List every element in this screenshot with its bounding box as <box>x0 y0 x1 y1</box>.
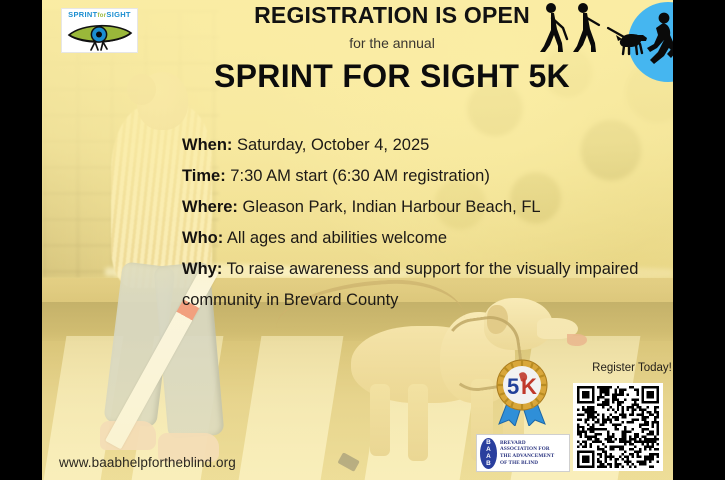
detail-value: 7:30 AM start (6:30 AM registration) <box>226 167 490 185</box>
guide-dog-icon <box>602 24 654 56</box>
baab-name-line: ASSOCIATION FOR <box>500 446 554 453</box>
baab-name-line: THE ADVANCEMENT <box>500 453 554 460</box>
poster-stage: SPRINTforSIGHT REGISTRATION IS OPEN for … <box>0 0 725 480</box>
running-eye-icon <box>65 20 135 52</box>
website-url[interactable]: www.baabhelpfortheblind.org <box>59 455 236 470</box>
baab-logo: BAAB BREVARDASSOCIATION FORTHE ADVANCEME… <box>476 434 570 472</box>
detail-row: Time: 7:30 AM start (6:30 AM registratio… <box>182 161 652 192</box>
5k-medal-icon: 5 K <box>491 358 553 426</box>
register-today-label: Register Today! <box>572 362 673 374</box>
baab-name-line: BREVARD <box>500 440 554 447</box>
baab-letter: B <box>486 460 491 467</box>
baab-name-line: OF THE BLIND <box>500 460 554 467</box>
baab-acronym: BAAB <box>480 438 497 469</box>
detail-row: Where: Gleason Park, Indian Harbour Beac… <box>182 192 652 223</box>
detail-row: Who: All ages and abilities welcome <box>182 223 652 254</box>
sprint-for-sight-logo: SPRINTforSIGHT <box>61 8 138 53</box>
detail-value: Gleason Park, Indian Harbour Beach, FL <box>238 198 541 216</box>
svg-text:5: 5 <box>507 374 519 399</box>
detail-value: All ages and abilities welcome <box>223 229 447 247</box>
detail-label: Why: <box>182 260 222 278</box>
event-title: SPRINT FOR SIGHT 5K <box>142 58 642 95</box>
letterbox-right <box>673 0 725 480</box>
detail-row: When: Saturday, October 4, 2025 <box>182 130 652 161</box>
qr-code-icon[interactable] <box>576 386 660 468</box>
detail-label: When: <box>182 136 232 154</box>
detail-row: Why: To raise awareness and support for … <box>182 254 652 316</box>
poster-content: SPRINTforSIGHT REGISTRATION IS OPEN for … <box>42 0 673 480</box>
event-details-list: When: Saturday, October 4, 2025Time: 7:3… <box>182 130 652 316</box>
letterbox-left <box>0 0 42 480</box>
baab-letter: B <box>486 439 491 446</box>
baab-full-name: BREVARDASSOCIATION FORTHE ADVANCEMENTOF … <box>500 440 554 466</box>
detail-label: Who: <box>182 229 223 247</box>
detail-value: To raise awareness and support for the v… <box>182 260 638 309</box>
detail-label: Where: <box>182 198 238 216</box>
registration-qr-code[interactable] <box>573 383 663 471</box>
detail-value: Saturday, October 4, 2025 <box>232 136 429 154</box>
logo-word-left: SPRINT <box>68 10 97 19</box>
logo-wordmark: SPRINTforSIGHT <box>68 11 131 19</box>
detail-label: Time: <box>182 167 226 185</box>
poster-canvas: SPRINTforSIGHT REGISTRATION IS OPEN for … <box>42 0 673 480</box>
baab-letter: A <box>486 446 491 453</box>
walking-person-with-cane-icon <box>532 2 572 54</box>
logo-word-right: SIGHT <box>106 10 130 19</box>
baab-letter: A <box>486 453 491 460</box>
